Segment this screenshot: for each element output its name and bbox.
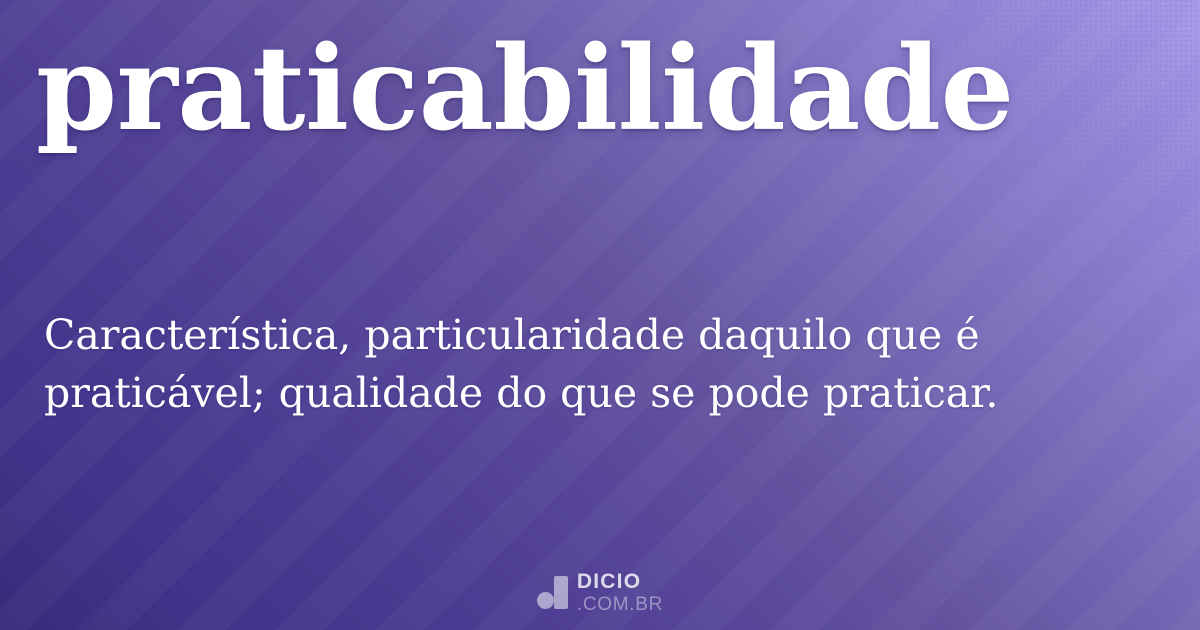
brand-tld: .COM.BR <box>577 595 663 614</box>
brand-mark <box>537 576 568 609</box>
brand-wordmark: DICIO .COM.BR <box>577 571 663 614</box>
brand-logo: DICIO .COM.BR <box>0 571 1200 614</box>
circle-icon <box>537 592 554 609</box>
card-content: praticabilidade Característica, particul… <box>0 0 1200 630</box>
headword-title: praticabilidade <box>36 26 1166 154</box>
brand-name: DICIO <box>577 571 663 592</box>
definition-text: Característica, particularidade daquilo … <box>44 306 1134 422</box>
dictionary-share-card: praticabilidade Característica, particul… <box>0 0 1200 630</box>
rounded-bar-icon <box>554 576 568 609</box>
